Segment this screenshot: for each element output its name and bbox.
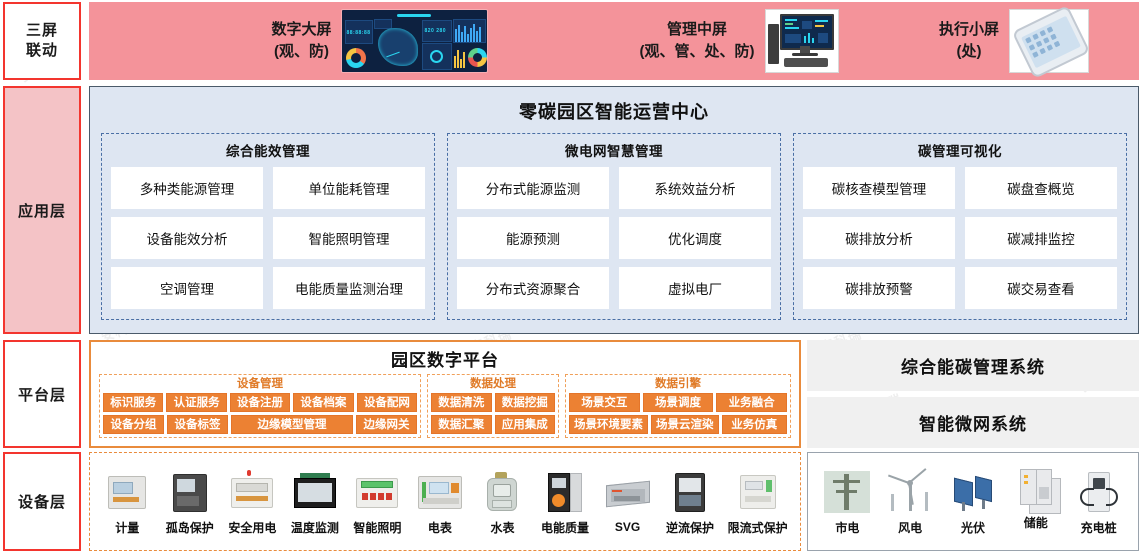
layer-label-screens-line1: 三屏 <box>26 21 58 41</box>
device-label: 智能照明 <box>353 519 401 536</box>
system-box-microgrid[interactable]: 智能微网系统 <box>807 397 1139 448</box>
app-tile[interactable]: 系统效益分析 <box>619 167 771 209</box>
app-tile[interactable]: 分布式能源监测 <box>457 167 609 209</box>
device-item-photovoltaic[interactable]: 光伏 <box>948 468 998 536</box>
smartphone-icon <box>1009 9 1089 73</box>
device-label: 孤岛保护 <box>166 519 214 536</box>
layer-label-device: 设备层 <box>3 452 81 551</box>
application-row: 应用层 零碳园区智能运营中心 综合能效管理 多种类能源管理 单位能耗管理 设备能… <box>0 86 1145 334</box>
safe-electricity-monitor-icon <box>227 468 277 516</box>
device-row: 设备层 计量 孤岛保护 <box>0 452 1145 551</box>
app-tile[interactable]: 设备能效分析 <box>111 217 263 259</box>
application-center-title: 零碳园区智能运营中心 <box>519 98 709 124</box>
platform-chip[interactable]: 数据清洗 <box>431 393 492 412</box>
device-label: 光伏 <box>961 519 985 536</box>
screen-small-title: 执行小屏 <box>939 19 999 42</box>
app-tile[interactable]: 空调管理 <box>111 267 263 309</box>
layer-label-screens-line2: 联动 <box>26 41 58 61</box>
utility-grid-pole-icon <box>822 468 872 516</box>
app-tile[interactable]: 碳排放预警 <box>803 267 955 309</box>
application-groups: 综合能效管理 多种类能源管理 单位能耗管理 设备能效分析 智能照明管理 空调管理… <box>101 133 1127 320</box>
device-label: 水表 <box>490 519 514 536</box>
platform-chip[interactable]: 认证服务 <box>166 393 226 412</box>
platform-chip[interactable]: 业务融合 <box>716 393 787 412</box>
digital-platform-panel: 园区数字平台 设备管理 标识服务 认证服务 设备注册 设备档案 设备配网 设备分… <box>89 340 801 448</box>
app-tile[interactable]: 优化调度 <box>619 217 771 259</box>
reverse-flow-protector-icon <box>665 468 715 516</box>
platform-chip[interactable]: 场景交互 <box>569 393 640 412</box>
device-wrap: 计量 孤岛保护 安全用电 <box>89 452 1139 551</box>
app-tile[interactable]: 多种类能源管理 <box>111 167 263 209</box>
device-label: 温度监测 <box>291 519 339 536</box>
platform-group-device-management: 设备管理 标识服务 认证服务 设备注册 设备档案 设备配网 设备分组 设备标签 … <box>99 374 421 438</box>
chip-row: 场景交互 场景调度 业务融合 <box>569 393 787 412</box>
device-item-current-limiting-protection[interactable]: 限流式保护 <box>728 468 788 536</box>
screen-item-small[interactable]: 执行小屏 (处) <box>889 9 1139 73</box>
device-item-utility-grid[interactable]: 市电 <box>822 468 872 536</box>
smart-lighting-module-icon <box>352 468 402 516</box>
platform-chip[interactable]: 标识服务 <box>103 393 163 412</box>
app-tile[interactable]: 能源预测 <box>457 217 609 259</box>
platform-wrap: 园区数字平台 设备管理 标识服务 认证服务 设备注册 设备档案 设备配网 设备分… <box>89 340 1139 448</box>
platform-group-title: 设备管理 <box>103 377 417 391</box>
layer-label-screens: 三屏 联动 <box>3 2 81 80</box>
temperature-monitor-panel-icon <box>290 468 340 516</box>
app-group-energy-efficiency: 综合能效管理 多种类能源管理 单位能耗管理 设备能效分析 智能照明管理 空调管理… <box>101 133 435 320</box>
platform-chip[interactable]: 业务仿真 <box>722 415 788 434</box>
platform-chip[interactable]: 设备配网 <box>357 393 417 412</box>
screen-big-caption: 数字大屏 (观、防) <box>271 19 331 64</box>
screens-row: 三屏 联动 数字大屏 (观、防) 88:88:88 820 280 <box>0 2 1145 80</box>
device-left-panel: 计量 孤岛保护 安全用电 <box>89 452 801 551</box>
app-tile[interactable]: 碳交易查看 <box>965 267 1117 309</box>
svg-compensator-icon <box>603 469 653 517</box>
power-quality-analyzer-icon <box>540 468 590 516</box>
app-group-title: 综合能效管理 <box>111 140 425 160</box>
screen-small-caption: 执行小屏 (处) <box>939 19 999 64</box>
platform-chip[interactable]: 设备分组 <box>103 415 164 434</box>
device-label: 电表 <box>428 519 452 536</box>
app-tile[interactable]: 碳减排监控 <box>965 217 1117 259</box>
platform-group-data-engine: 数据引擎 场景交互 场景调度 业务融合 场景环境要素 场景云渲染 业务仿真 <box>565 374 791 438</box>
din-rail-meter-icon <box>102 468 152 516</box>
device-item-energy-storage[interactable]: 储能 <box>1011 472 1061 531</box>
app-tile[interactable]: 智能照明管理 <box>273 217 425 259</box>
platform-chip[interactable]: 应用集成 <box>495 415 556 434</box>
device-label: SVG <box>615 520 640 534</box>
app-tile[interactable]: 电能质量监测治理 <box>273 267 425 309</box>
system-box-carbon[interactable]: 综合能碳管理系统 <box>807 340 1139 391</box>
ev-charging-pile-icon <box>1074 468 1124 516</box>
app-group-microgrid: 微电网智慧管理 分布式能源监测 系统效益分析 能源预测 优化调度 分布式资源聚合… <box>447 133 781 320</box>
platform-chip[interactable]: 场景云渲染 <box>651 415 719 434</box>
app-group-title: 碳管理可视化 <box>803 140 1117 160</box>
app-group-carbon: 碳管理可视化 碳核查模型管理 碳盘查概览 碳排放分析 碳减排监控 碳排放预警 碳… <box>793 133 1127 320</box>
screen-medium-subtitle: (观、管、处、防) <box>640 41 755 64</box>
application-panel: 零碳园区智能运营中心 综合能效管理 多种类能源管理 单位能耗管理 设备能效分析 … <box>89 86 1139 334</box>
device-item-electric-meter[interactable]: 电表 <box>415 468 465 536</box>
chip-row: 数据汇聚 应用集成 <box>431 415 555 434</box>
energy-storage-cabinet-icon <box>1011 463 1061 511</box>
platform-chip[interactable]: 数据汇聚 <box>431 415 492 434</box>
app-tile[interactable]: 碳核查模型管理 <box>803 167 955 209</box>
platform-group-data-processing: 数据处理 数据清洗 数据挖掘 数据汇聚 应用集成 <box>427 374 559 438</box>
chip-row: 设备分组 设备标签 边缘模型管理 边缘网关 <box>103 415 417 434</box>
platform-chip[interactable]: 边缘模型管理 <box>231 415 353 434</box>
island-protection-relay-icon <box>165 468 215 516</box>
device-label: 充电桩 <box>1081 519 1117 536</box>
current-limiting-protector-icon <box>733 468 783 516</box>
app-group-title: 微电网智慧管理 <box>457 140 771 160</box>
platform-groups: 设备管理 标识服务 认证服务 设备注册 设备档案 设备配网 设备分组 设备标签 … <box>95 374 795 438</box>
platform-chip[interactable]: 边缘网关 <box>356 415 417 434</box>
app-tile-grid: 碳核查模型管理 碳盘查概览 碳排放分析 碳减排监控 碳排放预警 碳交易查看 <box>803 167 1117 309</box>
solar-pv-panel-icon <box>948 468 998 516</box>
device-item-island-protection[interactable]: 孤岛保护 <box>165 468 215 536</box>
platform-chip[interactable]: 设备标签 <box>167 415 228 434</box>
layer-label-application: 应用层 <box>3 86 81 334</box>
screen-big-subtitle: (观、防) <box>271 41 331 64</box>
platform-chip[interactable]: 设备注册 <box>230 393 290 412</box>
screens-panel: 数字大屏 (观、防) 88:88:88 820 280 <box>89 2 1139 80</box>
desktop-monitor-icon <box>765 9 839 73</box>
platform-chip[interactable]: 数据挖掘 <box>495 393 556 412</box>
screen-small-subtitle: (处) <box>939 41 999 64</box>
platform-chip[interactable]: 场景调度 <box>643 393 714 412</box>
chip-row: 标识服务 认证服务 设备注册 设备档案 设备配网 <box>103 393 417 412</box>
app-tile[interactable]: 单位能耗管理 <box>273 167 425 209</box>
device-label: 储能 <box>1024 514 1048 531</box>
device-item-metering[interactable]: 计量 <box>102 468 152 536</box>
wind-turbine-icon <box>885 468 935 516</box>
platform-group-title: 数据引擎 <box>569 377 787 391</box>
electric-meter-icon <box>415 468 465 516</box>
chip-row: 场景环境要素 场景云渲染 业务仿真 <box>569 415 787 434</box>
device-label: 风电 <box>898 519 922 536</box>
device-right-panel: 市电 风电 <box>807 452 1139 551</box>
app-tile-grid: 分布式能源监测 系统效益分析 能源预测 优化调度 分布式资源聚合 虚拟电厂 <box>457 167 771 309</box>
device-item-svg[interactable]: SVG <box>603 469 653 534</box>
chip-row: 数据清洗 数据挖掘 <box>431 393 555 412</box>
device-item-smart-lighting[interactable]: 智能照明 <box>352 468 402 536</box>
screen-medium-title: 管理中屏 <box>640 19 755 42</box>
app-tile[interactable]: 碳排放分析 <box>803 217 955 259</box>
device-item-temperature-monitoring[interactable]: 温度监测 <box>290 468 340 536</box>
layer-label-platform: 平台层 <box>3 340 81 448</box>
platform-chip[interactable]: 场景环境要素 <box>569 415 648 434</box>
app-tile[interactable]: 碳盘查概览 <box>965 167 1117 209</box>
device-label: 限流式保护 <box>728 519 788 536</box>
device-item-charging-pile[interactable]: 充电桩 <box>1074 468 1124 536</box>
device-item-reverse-flow-protection[interactable]: 逆流保护 <box>665 468 715 536</box>
screen-medium-caption: 管理中屏 (观、管、处、防) <box>640 19 755 64</box>
architecture-diagram: 安科瑞 安科瑞 安科瑞 安科瑞 安科瑞 安科瑞 安科瑞 安科瑞 安科瑞 安科瑞 … <box>0 0 1145 554</box>
screen-item-medium[interactable]: 管理中屏 (观、管、处、防) <box>589 9 889 73</box>
device-label: 安全用电 <box>228 519 276 536</box>
screen-item-big[interactable]: 数字大屏 (观、防) 88:88:88 820 280 <box>169 10 589 72</box>
device-item-safe-electricity[interactable]: 安全用电 <box>227 468 277 536</box>
platform-chip[interactable]: 设备档案 <box>293 393 353 412</box>
platform-row: 平台层 园区数字平台 设备管理 标识服务 认证服务 设备注册 设备档案 设备配网 <box>0 340 1145 448</box>
app-tile[interactable]: 分布式资源聚合 <box>457 267 609 309</box>
large-dashboard-screen-icon: 88:88:88 820 280 <box>342 10 487 72</box>
app-tile[interactable]: 虚拟电厂 <box>619 267 771 309</box>
device-item-wind-power[interactable]: 风电 <box>885 468 935 536</box>
platform-group-title: 数据处理 <box>431 377 555 391</box>
device-item-power-quality[interactable]: 电能质量 <box>540 468 590 536</box>
platform-systems: 综合能碳管理系统 智能微网系统 <box>807 340 1139 448</box>
screen-big-title: 数字大屏 <box>271 19 331 42</box>
platform-title: 园区数字平台 <box>391 346 499 371</box>
device-label: 计量 <box>115 519 139 536</box>
water-meter-icon <box>477 468 527 516</box>
device-label: 逆流保护 <box>666 519 714 536</box>
device-label: 电能质量 <box>541 519 589 536</box>
device-label: 市电 <box>835 519 859 536</box>
device-item-water-meter[interactable]: 水表 <box>477 468 527 536</box>
app-tile-grid: 多种类能源管理 单位能耗管理 设备能效分析 智能照明管理 空调管理 电能质量监测… <box>111 167 425 309</box>
